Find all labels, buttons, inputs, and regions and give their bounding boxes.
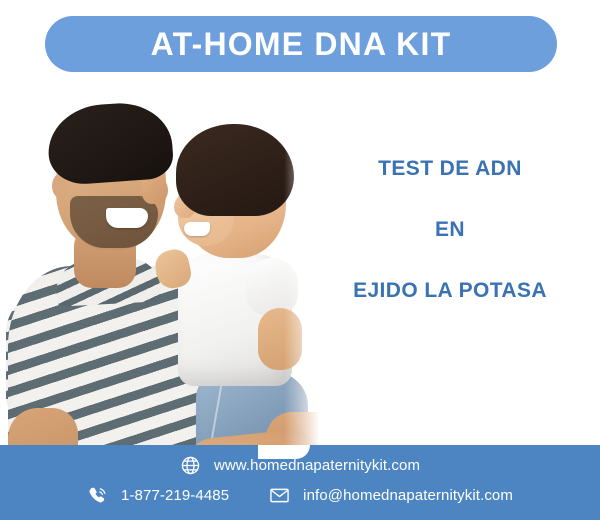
family-photo	[0, 82, 330, 472]
photo-canvas	[0, 82, 330, 472]
footer-phone-text: 1-877-219-4485	[121, 488, 229, 503]
man-smile	[106, 208, 148, 228]
footer-phone-item[interactable]: 1-877-219-4485	[87, 485, 229, 506]
promo-poster: AT-HOME DNA KIT	[0, 0, 600, 520]
footer-contact-row: 1-877-219-4485 info@homednapaternitykit.…	[0, 485, 600, 506]
headline-line-2: EN	[310, 219, 590, 240]
child-hair	[176, 124, 294, 216]
man-hair	[45, 100, 174, 186]
header-banner-title: AT-HOME DNA KIT	[151, 28, 452, 60]
footer-website-item[interactable]: www.homednapaternitykit.com	[180, 455, 420, 476]
footer-email-text: info@homednapaternitykit.com	[303, 488, 513, 503]
headline-line-1: TEST DE ADN	[310, 158, 590, 179]
headline-block: TEST DE ADN EN EJIDO LA POTASA	[310, 158, 590, 301]
globe-icon	[180, 455, 201, 476]
phone-icon	[87, 485, 108, 506]
footer-website-text: www.homednapaternitykit.com	[214, 458, 420, 473]
child-mouth	[184, 222, 210, 236]
header-banner: AT-HOME DNA KIT	[45, 16, 557, 72]
footer-website-row: www.homednapaternitykit.com	[0, 455, 600, 476]
footer-email-item[interactable]: info@homednapaternitykit.com	[269, 485, 513, 506]
envelope-icon	[269, 485, 290, 506]
headline-line-3: EJIDO LA POTASA	[310, 280, 590, 301]
